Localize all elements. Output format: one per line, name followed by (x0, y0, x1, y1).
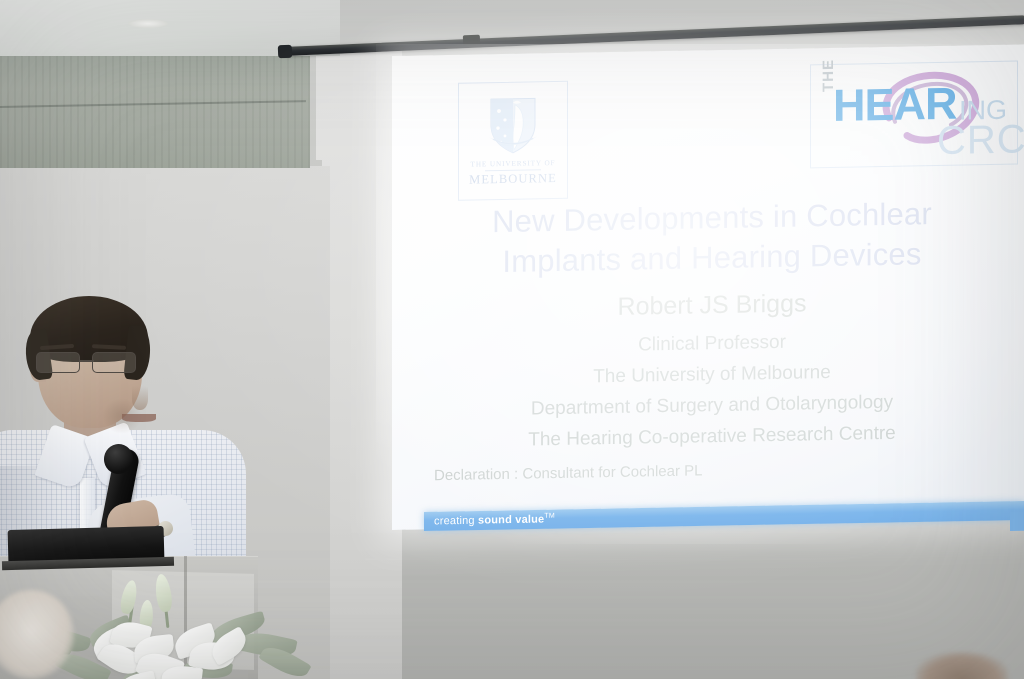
mouth (122, 414, 156, 422)
ceiling-light-icon (128, 19, 168, 28)
footer-prefix: creating (434, 515, 478, 528)
unimelb-line2: MELBOURNE (469, 171, 557, 188)
slide-footer-bar-extension (1010, 512, 1024, 531)
hearing-crc-text: CRC (937, 119, 1024, 161)
slide-footer-text: creating sound valueTM (434, 513, 555, 528)
rail-end-cap (278, 45, 293, 59)
lily-bud (153, 573, 173, 613)
nose (132, 386, 148, 410)
unimelb-line1: THE UNIVERSITY OF (471, 159, 556, 169)
university-of-melbourne-logo: THE UNIVERSITY OF MELBOURNE (458, 81, 568, 201)
slide-author: Robert JS Briggs (426, 285, 998, 325)
presentation-photo: THE UNIVERSITY OF MELBOURNE THE HEAR ING… (0, 0, 1024, 679)
lens-left (36, 352, 80, 373)
slide-affiliations: Clinical Professor The University of Mel… (426, 323, 998, 457)
footer-emphasis: sound value (478, 513, 544, 526)
unimelb-crest-icon (485, 94, 541, 157)
lily-bud (119, 579, 140, 615)
glasses-icon (30, 352, 152, 374)
wall-upper-band (0, 46, 310, 168)
footer-trademark: TM (544, 513, 555, 520)
flower-arrangement (34, 578, 334, 679)
hearing-crc-logo: THE HEAR ING CRC (810, 61, 1018, 169)
lens-right (92, 352, 136, 373)
projected-slide: THE UNIVERSITY OF MELBOURNE THE HEAR ING… (392, 44, 1024, 530)
glasses-bridge (80, 360, 94, 362)
rail-bracket (463, 35, 480, 46)
slide-declaration: Declaration : Consultant for Cochlear PL (434, 462, 702, 484)
slide-title: New Developments in Cochlear Implants an… (426, 193, 998, 283)
wall-seam (0, 100, 306, 108)
